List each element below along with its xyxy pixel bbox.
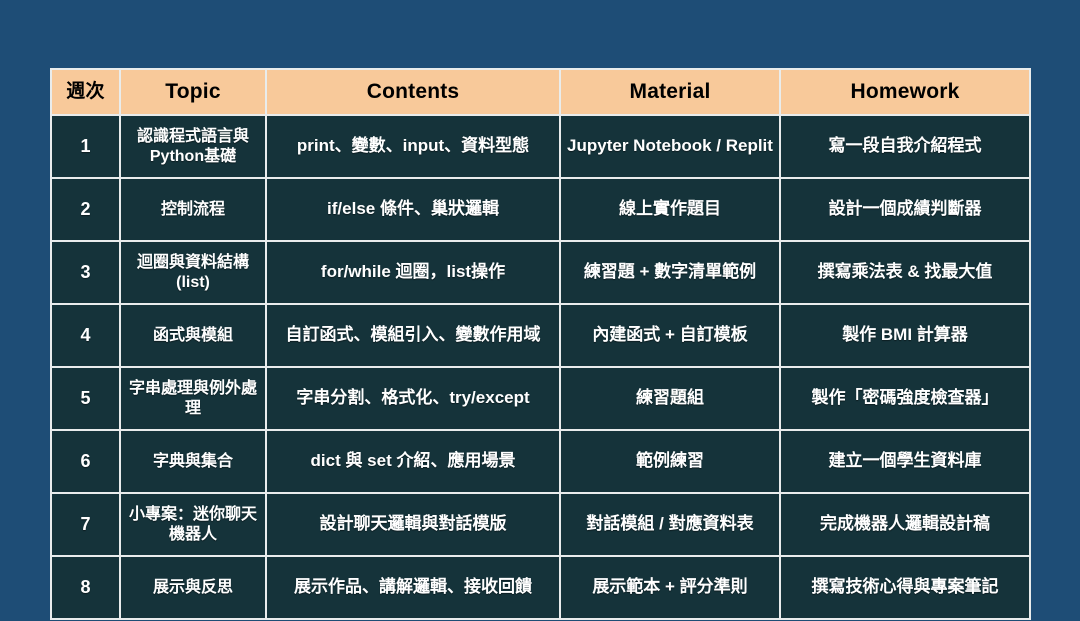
cell-homework: 完成機器人邏輯設計稿 (780, 493, 1030, 556)
cell-week: 1 (51, 115, 120, 178)
table-row: 3 迴圈與資料結構(list) for/while 迴圈，list操作 練習題 … (51, 241, 1030, 304)
table-header-row: 週次 Topic Contents Material Homework (51, 69, 1030, 115)
slide-canvas: 週次 Topic Contents Material Homework 1 認識… (0, 0, 1080, 621)
table-row: 7 小專案：迷你聊天機器人 設計聊天邏輯與對話模版 對話模組 / 對應資料表 完… (51, 493, 1030, 556)
cell-week: 7 (51, 493, 120, 556)
cell-topic: 迴圈與資料結構(list) (120, 241, 266, 304)
cell-contents: 設計聊天邏輯與對話模版 (266, 493, 560, 556)
cell-topic: 展示與反思 (120, 556, 266, 619)
cell-homework: 寫一段自我介紹程式 (780, 115, 1030, 178)
course-schedule-table: 週次 Topic Contents Material Homework 1 認識… (50, 68, 1031, 620)
cell-topic: 字串處理與例外處理 (120, 367, 266, 430)
table-row: 2 控制流程 if/else 條件、巢狀邏輯 線上實作題目 設計一個成績判斷器 (51, 178, 1030, 241)
table-row: 8 展示與反思 展示作品、講解邏輯、接收回饋 展示範本 + 評分準則 撰寫技術心… (51, 556, 1030, 619)
cell-homework: 製作「密碼強度檢查器」 (780, 367, 1030, 430)
cell-contents: print、變數、input、資料型態 (266, 115, 560, 178)
cell-material: 線上實作題目 (560, 178, 780, 241)
cell-topic: 小專案：迷你聊天機器人 (120, 493, 266, 556)
cell-material: 內建函式 + 自訂模板 (560, 304, 780, 367)
cell-week: 5 (51, 367, 120, 430)
table-row: 6 字典與集合 dict 與 set 介紹、應用場景 範例練習 建立一個學生資料… (51, 430, 1030, 493)
cell-homework: 建立一個學生資料庫 (780, 430, 1030, 493)
cell-contents: 展示作品、講解邏輯、接收回饋 (266, 556, 560, 619)
cell-homework: 製作 BMI 計算器 (780, 304, 1030, 367)
cell-material: Jupyter Notebook / Replit (560, 115, 780, 178)
table-row: 1 認識程式語言與Python基礎 print、變數、input、資料型態 Ju… (51, 115, 1030, 178)
cell-contents: for/while 迴圈，list操作 (266, 241, 560, 304)
cell-topic: 函式與模組 (120, 304, 266, 367)
cell-homework: 設計一個成績判斷器 (780, 178, 1030, 241)
cell-topic: 控制流程 (120, 178, 266, 241)
cell-material: 練習題組 (560, 367, 780, 430)
cell-homework: 撰寫乘法表 & 找最大值 (780, 241, 1030, 304)
column-header-homework: Homework (780, 69, 1030, 115)
cell-contents: 字串分割、格式化、try/except (266, 367, 560, 430)
cell-topic: 認識程式語言與Python基礎 (120, 115, 266, 178)
cell-material: 範例練習 (560, 430, 780, 493)
column-header-topic: Topic (120, 69, 266, 115)
cell-material: 對話模組 / 對應資料表 (560, 493, 780, 556)
column-header-contents: Contents (266, 69, 560, 115)
cell-contents: dict 與 set 介紹、應用場景 (266, 430, 560, 493)
table-header: 週次 Topic Contents Material Homework (51, 69, 1030, 115)
column-header-week: 週次 (51, 69, 120, 115)
cell-material: 展示範本 + 評分準則 (560, 556, 780, 619)
column-header-material: Material (560, 69, 780, 115)
cell-week: 8 (51, 556, 120, 619)
table-row: 5 字串處理與例外處理 字串分割、格式化、try/except 練習題組 製作「… (51, 367, 1030, 430)
cell-topic: 字典與集合 (120, 430, 266, 493)
cell-week: 2 (51, 178, 120, 241)
table-row: 4 函式與模組 自訂函式、模組引入、變數作用域 內建函式 + 自訂模板 製作 B… (51, 304, 1030, 367)
cell-material: 練習題 + 數字清單範例 (560, 241, 780, 304)
cell-contents: 自訂函式、模組引入、變數作用域 (266, 304, 560, 367)
table-body: 1 認識程式語言與Python基礎 print、變數、input、資料型態 Ju… (51, 115, 1030, 619)
course-schedule-container: 週次 Topic Contents Material Homework 1 認識… (50, 68, 1029, 620)
cell-week: 6 (51, 430, 120, 493)
cell-contents: if/else 條件、巢狀邏輯 (266, 178, 560, 241)
cell-homework: 撰寫技術心得與專案筆記 (780, 556, 1030, 619)
cell-week: 3 (51, 241, 120, 304)
cell-week: 4 (51, 304, 120, 367)
